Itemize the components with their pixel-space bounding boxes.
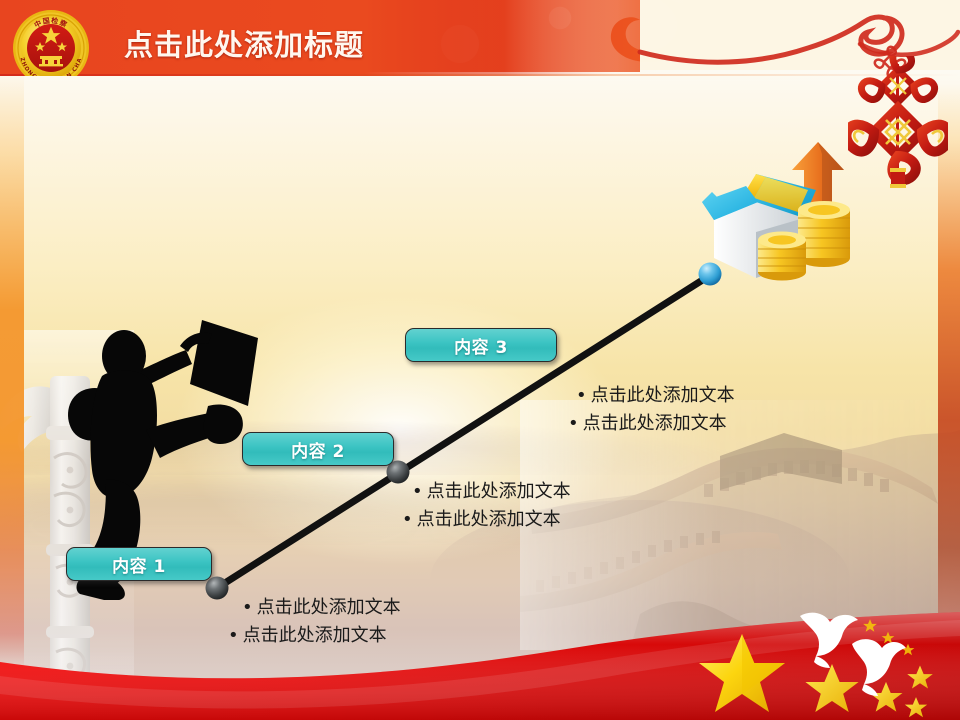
bullet-item[interactable]: • 点击此处添加文本 xyxy=(568,410,735,438)
content-pill-1-label: 内容 1 xyxy=(112,552,166,577)
bullet-group-2: • 点击此处添加文本 • 点击此处添加文本 xyxy=(402,478,571,534)
house-coins-arrow-illustration xyxy=(700,140,860,285)
bullet-text: 点击此处添加文本 xyxy=(417,506,561,534)
bullet-dot-icon: • xyxy=(402,506,413,534)
header-divider xyxy=(0,74,960,76)
bullet-item[interactable]: • 点击此处添加文本 xyxy=(402,478,571,506)
bullet-text: 点击此处添加文本 xyxy=(583,410,727,438)
slide-canvas: 内容 1 内容 2 内容 3 • 点击此处添加文本 • 点击此处添加文本 • 点… xyxy=(0,0,960,720)
chinese-knot-ornament xyxy=(848,56,948,191)
bullet-dot-icon: • xyxy=(576,382,587,410)
content-pill-3-label: 内容 3 xyxy=(454,333,508,358)
content-pill-3[interactable]: 内容 3 xyxy=(405,328,557,362)
content-pill-1[interactable]: 内容 1 xyxy=(66,547,212,581)
dove-icon xyxy=(852,639,906,696)
header-banner: 中国检察 ZHONG GUO JIAN CHA 点击此处添加标题 xyxy=(0,0,960,76)
page-title: 点击此处添加标题 xyxy=(124,22,364,64)
bullet-item[interactable]: • 点击此处添加文本 xyxy=(402,506,571,534)
procuratorate-emblem: 中国检察 ZHONG GUO JIAN CHA xyxy=(10,6,92,76)
content-pill-2[interactable]: 内容 2 xyxy=(242,432,394,466)
gold-stars-and-doves xyxy=(680,610,960,720)
bullet-dot-icon: • xyxy=(412,478,423,506)
dove-icon xyxy=(800,613,858,668)
bullet-text: 点击此处添加文本 xyxy=(427,478,571,506)
bullet-dot-icon: • xyxy=(568,410,579,438)
bullet-text: 点击此处添加文本 xyxy=(591,382,735,410)
left-edge-band xyxy=(0,70,24,670)
bullet-item[interactable]: • 点击此处添加文本 xyxy=(568,382,735,410)
content-pill-2-label: 内容 2 xyxy=(291,437,345,462)
bullet-group-3: • 点击此处添加文本 • 点击此处添加文本 xyxy=(568,382,735,438)
